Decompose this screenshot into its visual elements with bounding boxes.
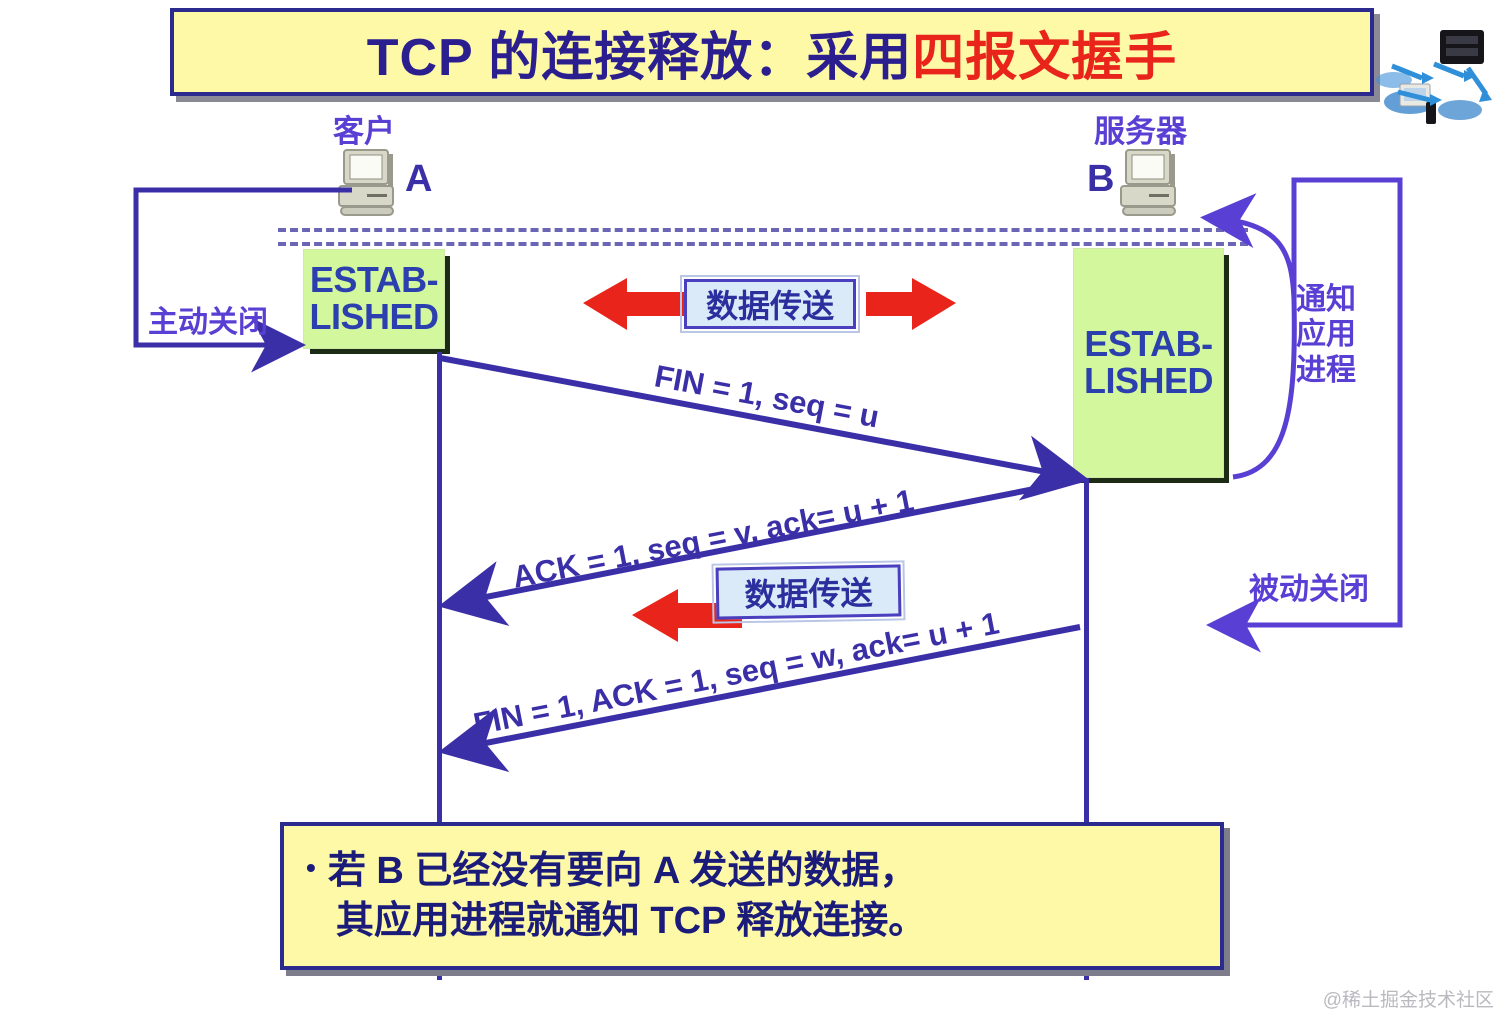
data-transfer-arrow-left (583, 278, 690, 330)
data-transfer-arrow-right (866, 278, 956, 330)
message-arrow-3 (450, 627, 1080, 750)
active-close-label: 主动关闭 (148, 305, 268, 340)
note-line-1: 若 B 已经没有要向 A 发送的数据， (328, 846, 926, 896)
notify-app-loop (1210, 180, 1400, 625)
passive-close-label: 被动关闭 (1249, 572, 1369, 607)
note-box: • 若 B 已经没有要向 A 发送的数据， 其应用进程就通知 TCP 释放连接。 (280, 822, 1224, 970)
data-transfer-bottom-label: 数据传送 (744, 568, 873, 616)
note-bullet: • (306, 846, 316, 891)
slide-canvas: TCP 的连接释放：采用四报文握手 客户 A 服务器 (0, 0, 1512, 1034)
data-transfer-pill-bottom: 数据传送 (716, 564, 902, 619)
message-arrow-1 (440, 358, 1078, 478)
note-line-2: 其应用进程就通知 TCP 释放连接。 (328, 896, 926, 946)
watermark: @稀土掘金技术社区 (1323, 985, 1494, 1012)
notify-app-label: 通知 应用 进程 (1296, 282, 1356, 388)
note-text: • 若 B 已经没有要向 A 发送的数据， 其应用进程就通知 TCP 释放连接。 (284, 846, 926, 946)
data-transfer-top-label: 数据传送 (706, 281, 834, 327)
data-transfer-pill-top: 数据传送 (684, 279, 856, 329)
